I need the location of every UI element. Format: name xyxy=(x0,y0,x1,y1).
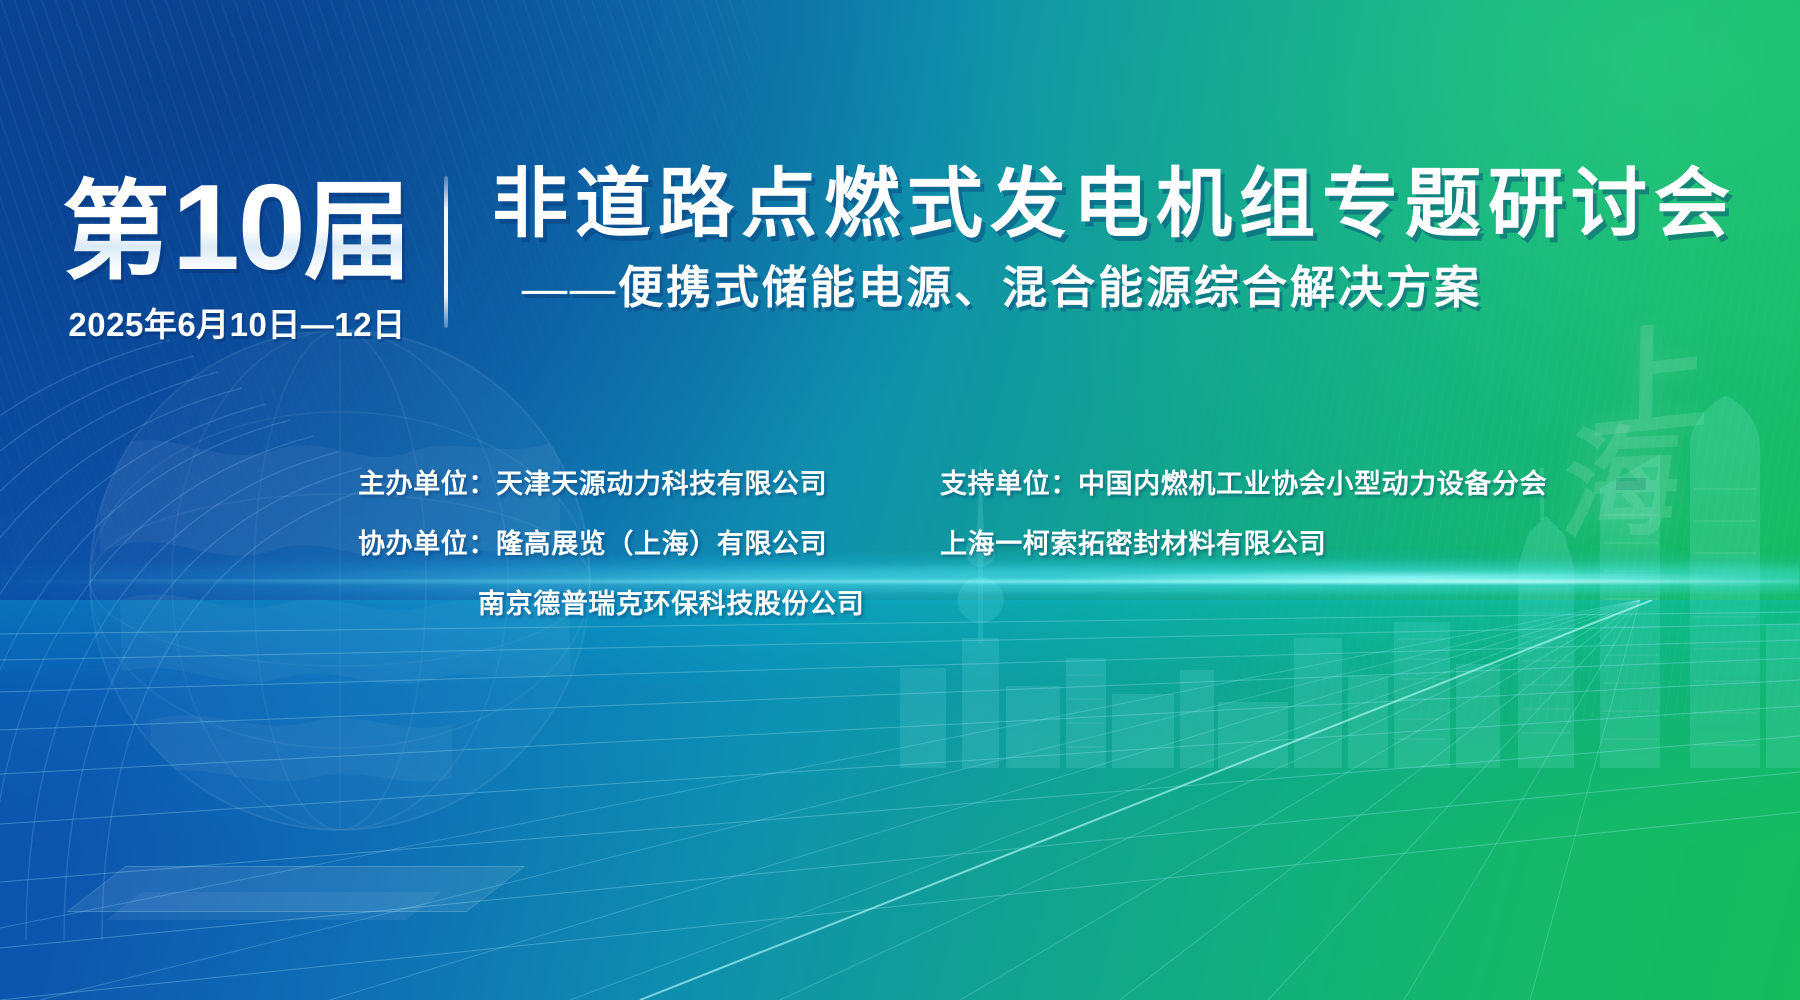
edition-prefix: 第 xyxy=(62,171,172,292)
edition-block: 第10届 2025年6月10日—12日 xyxy=(62,162,412,346)
organizer-credits: 主办单位：天津天源动力科技有限公司 支持单位：中国内燃机工业协会小型动力设备分会… xyxy=(0,462,1800,642)
credit-row: 协办单位：隆高展览（上海）有限公司 上海一柯索拓密封材料有限公司 xyxy=(0,522,1800,582)
page-title: 非道路点燃式发电机组专题研讨会 xyxy=(492,164,1737,246)
title-block: 非道路点燃式发电机组专题研讨会 ——便携式储能电源、混合能源综合解决方案 xyxy=(492,162,1737,314)
credit-host: 主办单位：天津天源动力科技有限公司 xyxy=(358,462,827,501)
page-subtitle: ——便携式储能电源、混合能源综合解决方案 xyxy=(522,262,1737,314)
headline-block: 第10届 2025年6月10日—12日 非道路点燃式发电机组专题研讨会 ——便携… xyxy=(62,162,1737,346)
credit-supporter: 支持单位：中国内燃机工业协会小型动力设备分会 xyxy=(940,462,1547,501)
conference-banner: 上 海 xyxy=(0,0,1800,1000)
edition-suffix: 届 xyxy=(304,171,414,292)
edition-title: 第10届 xyxy=(62,166,412,288)
vertical-divider xyxy=(444,176,448,328)
credit-row: 南京德普瑞克环保科技股份公司 xyxy=(0,582,1800,642)
event-dates: 2025年6月10日—12日 xyxy=(62,298,412,346)
credit-co-organizer: 协办单位：隆高展览（上海）有限公司 xyxy=(358,522,827,561)
edition-number: 10 xyxy=(172,159,304,295)
credit-co-organizer-secondary: 南京德普瑞克环保科技股份公司 xyxy=(478,582,864,621)
credit-row: 主办单位：天津天源动力科技有限公司 支持单位：中国内燃机工业协会小型动力设备分会 xyxy=(0,462,1800,522)
banner-content: 第10届 2025年6月10日—12日 非道路点燃式发电机组专题研讨会 ——便携… xyxy=(0,0,1800,1000)
credit-supporter-secondary: 上海一柯索拓密封材料有限公司 xyxy=(940,522,1326,561)
